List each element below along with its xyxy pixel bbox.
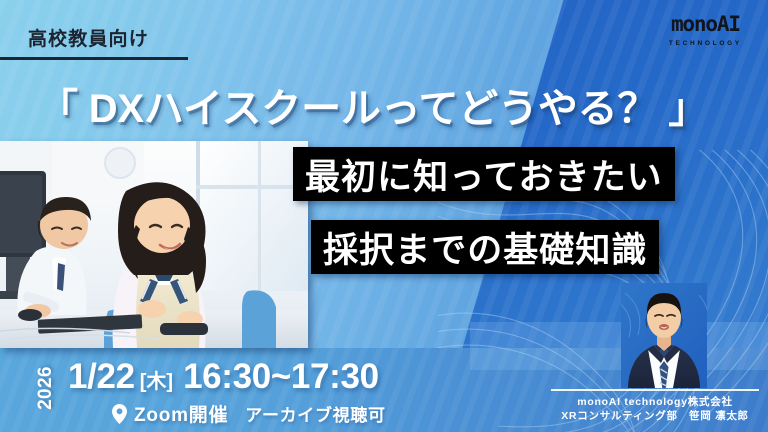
speaker-info: monoAI technology株式会社 XRコンサルティング部 笹岡 凛太郎 <box>551 395 759 423</box>
headline-bar-2: 採択までの基礎知識 <box>311 220 659 274</box>
speaker-divider <box>551 389 759 391</box>
event-date: 1/22 <box>68 357 135 397</box>
event-datetime: 1/22 [木] 16:30~17:30 <box>68 357 379 397</box>
event-year: 2026 <box>20 362 72 414</box>
headline-bar-1: 最初に知っておきたい <box>293 147 675 201</box>
speaker-name: XRコンサルティング部 笹岡 凛太郎 <box>551 409 759 423</box>
event-day-of-week: [木] <box>140 365 173 394</box>
brand-logo-mark: monoAI <box>669 14 742 35</box>
event-time: 16:30~17:30 <box>183 357 379 397</box>
brand-logo-subtitle: TECHNOLOGY <box>669 41 742 48</box>
webinar-banner: 高校教員向け monoAI TECHNOLOGY 「 DXハイスクールってどうや… <box>0 0 768 432</box>
classroom-photo <box>0 141 308 348</box>
audience-eyebrow: 高校教員向け <box>28 24 149 51</box>
page-title: 「 DXハイスクールってどうやる？ 」 <box>38 76 738 134</box>
event-venue-row: Zoom開催 アーカイブ視聴可 <box>112 400 386 427</box>
location-pin-icon <box>112 404 127 424</box>
event-venue: Zoom開催 <box>134 400 228 427</box>
event-archive-note: アーカイブ視聴可 <box>245 401 385 426</box>
speaker-portrait <box>621 283 707 388</box>
speaker-company: monoAI technology株式会社 <box>551 395 759 409</box>
eyebrow-divider <box>0 57 188 60</box>
brand-logo[interactable]: monoAI TECHNOLOGY <box>669 14 742 48</box>
